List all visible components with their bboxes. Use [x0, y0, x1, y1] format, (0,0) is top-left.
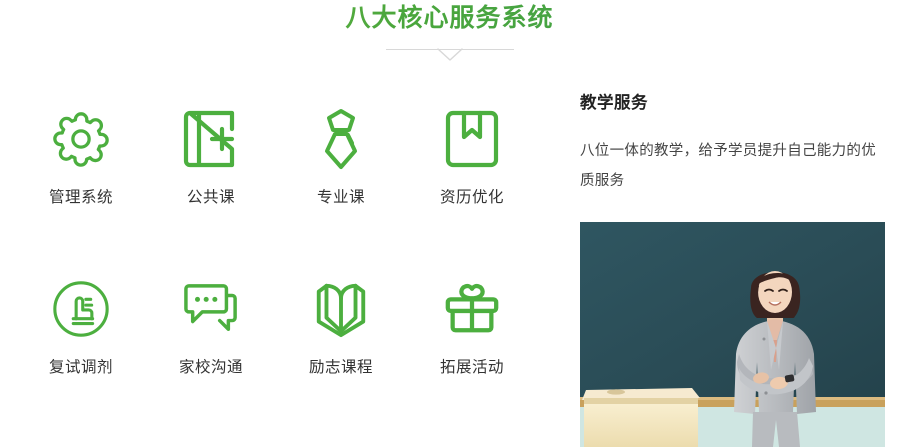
service-item-label: 资历优化 [407, 188, 537, 208]
service-item-gonggongke[interactable]: 公共课 [146, 100, 276, 208]
bookmark-icon [407, 100, 537, 178]
service-item-fushitiaoji[interactable]: 复试调剂 [16, 270, 146, 378]
hand-pointer-circle-icon [16, 270, 146, 348]
service-item-label: 复试调剂 [16, 358, 146, 378]
panel-heading: 教学服务 [580, 92, 890, 114]
book-plus-icon [146, 100, 276, 178]
service-item-label: 家校沟通 [146, 358, 276, 378]
service-item-label: 专业课 [276, 188, 406, 208]
service-item-guanlixitong[interactable]: 管理系统 [16, 100, 146, 208]
service-item-jiaxiaogoutong[interactable]: 家校沟通 [146, 270, 276, 378]
open-book-icon [276, 270, 406, 348]
service-item-lizhikecheng[interactable]: 励志课程 [276, 270, 406, 378]
service-item-label: 励志课程 [276, 358, 406, 378]
service-item-label: 公共课 [146, 188, 276, 208]
teaching-service-panel: 教学服务 八位一体的教学，给予学员提升自己能力的优质服务 [580, 92, 890, 196]
gear-icon [16, 100, 146, 178]
page-title: 八大核心服务系统 [0, 2, 899, 34]
chevron-down-icon [436, 46, 464, 62]
service-item-label: 管理系统 [16, 188, 146, 208]
title-divider [386, 46, 514, 62]
gift-icon [407, 270, 537, 348]
service-section: 八大核心服务系统 管理系统 [0, 0, 899, 447]
service-icon-grid: 管理系统 公共课 专业课 [16, 100, 536, 420]
service-item-label: 拓展活动 [407, 358, 537, 378]
teacher-classroom-photo [580, 222, 885, 447]
service-item-zhuanyeke[interactable]: 专业课 [276, 100, 406, 208]
panel-body: 八位一体的教学，给予学员提升自己能力的优质服务 [580, 136, 880, 196]
necktie-icon [276, 100, 406, 178]
chat-bubbles-icon [146, 270, 276, 348]
service-item-zilidaoyouhua[interactable]: 资历优化 [407, 100, 537, 208]
service-item-tuozhanhuodong[interactable]: 拓展活动 [407, 270, 537, 378]
